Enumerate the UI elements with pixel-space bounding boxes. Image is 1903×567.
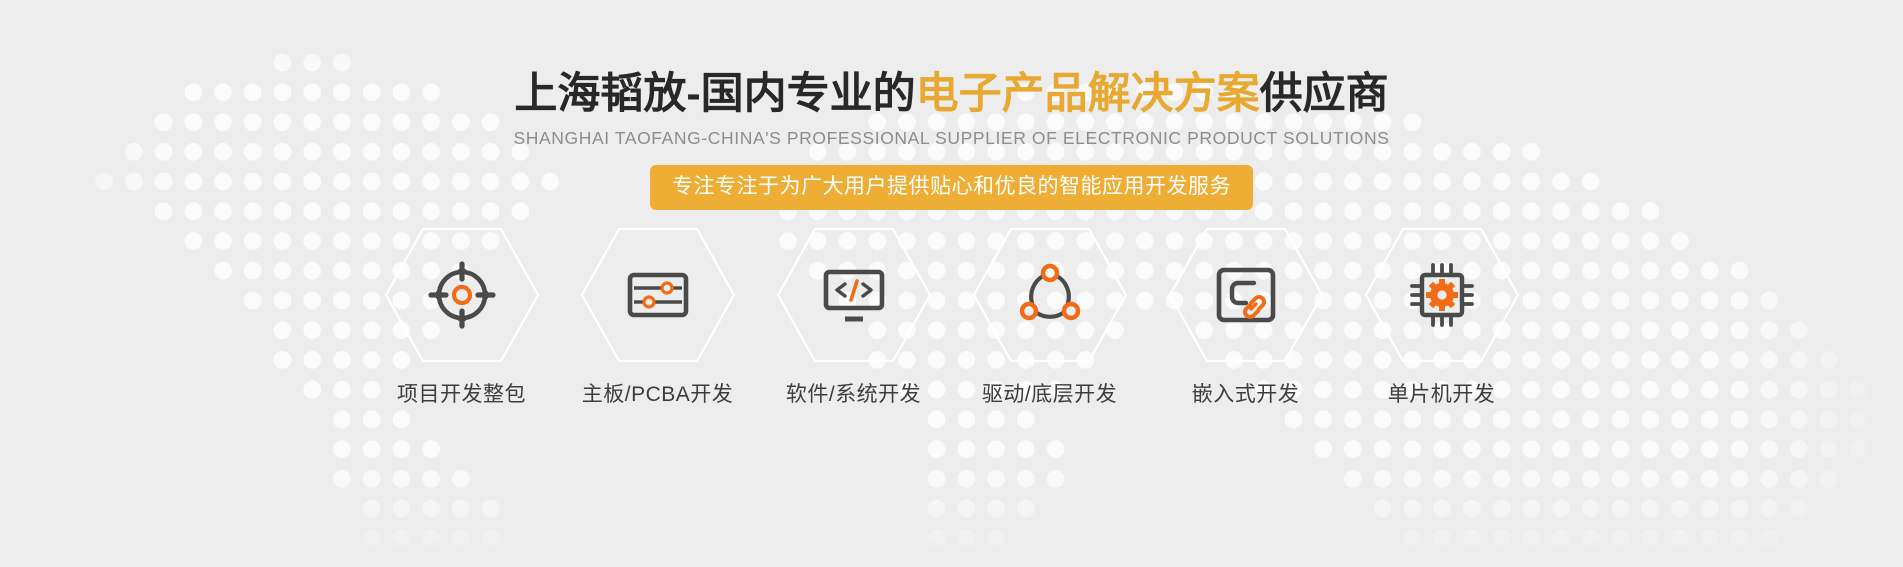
hexagon-frame <box>1363 226 1521 364</box>
node-network-icon <box>1014 259 1086 331</box>
hero-banner: 上海韬放-国内专业的电子产品解决方案供应商 SHANGHAI TAOFANG-C… <box>0 0 1903 567</box>
microchip-gear-icon <box>1406 259 1478 331</box>
headline-part-2: 供应商 <box>1260 70 1389 118</box>
hexagon-frame <box>775 226 933 364</box>
target-crosshair-icon <box>426 259 498 331</box>
hexagon-frame <box>579 226 737 364</box>
service-item-embedded[interactable]: 嵌入式开发 <box>1166 226 1326 408</box>
module-link-icon <box>1210 259 1282 331</box>
page-title: 上海韬放-国内专业的电子产品解决方案供应商 <box>514 72 1388 117</box>
slogan-badge: 专注专注于为广大用户提供贴心和优良的智能应用开发服务 <box>650 165 1253 210</box>
service-label: 主板/PCBA开发 <box>582 378 734 408</box>
service-list: 项目开发整包 <box>382 226 1522 408</box>
page-subtitle: SHANGHAI TAOFANG-CHINA'S PROFESSIONAL SU… <box>513 128 1389 149</box>
service-item-project-package[interactable]: 项目开发整包 <box>382 226 542 408</box>
service-label: 项目开发整包 <box>397 378 526 408</box>
hexagon-frame <box>1167 226 1325 364</box>
service-label: 嵌入式开发 <box>1192 378 1300 408</box>
service-item-pcba[interactable]: 主板/PCBA开发 <box>578 226 738 408</box>
monitor-code-icon <box>818 259 890 331</box>
service-label: 软件/系统开发 <box>786 378 921 408</box>
service-label: 驱动/底层开发 <box>982 378 1117 408</box>
hexagon-frame <box>383 226 541 364</box>
headline-part-1: 上海韬放-国内专业的 <box>514 70 915 118</box>
service-item-mcu[interactable]: 单片机开发 <box>1362 226 1522 408</box>
service-item-driver[interactable]: 驱动/底层开发 <box>970 226 1130 408</box>
hexagon-frame <box>971 226 1129 364</box>
banner-content: 上海韬放-国内专业的电子产品解决方案供应商 SHANGHAI TAOFANG-C… <box>0 0 1903 567</box>
headline-accent: 电子产品解决方案 <box>916 70 1260 118</box>
service-item-software[interactable]: 软件/系统开发 <box>774 226 934 408</box>
circuit-board-icon <box>622 259 694 331</box>
service-label: 单片机开发 <box>1388 378 1496 408</box>
